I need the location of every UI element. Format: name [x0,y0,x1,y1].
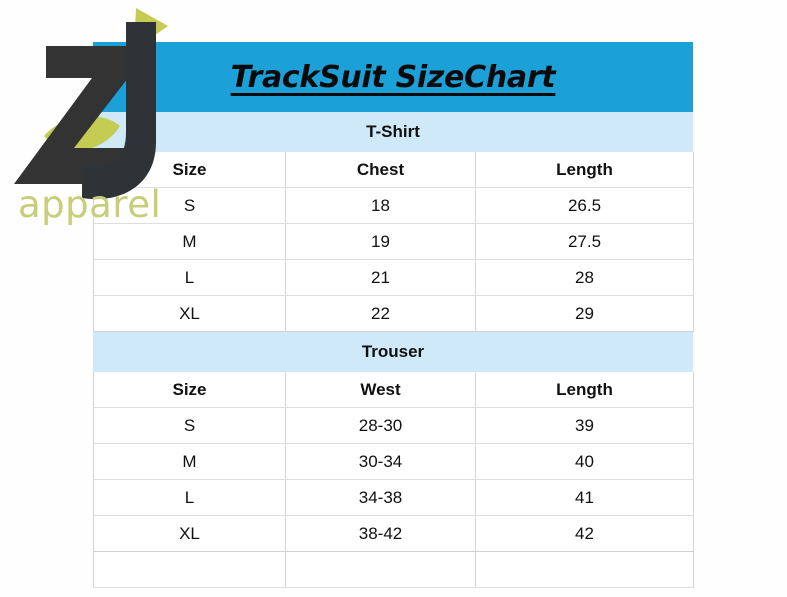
cell-chest: 21 [286,260,476,296]
table-row: L 21 28 [94,260,694,296]
section-heading-trouser: Trouser [93,332,693,372]
column-header-length: Length [476,372,694,408]
cell-length: 28 [476,260,694,296]
column-header-size: Size [94,152,286,188]
chart-title-band: TrackSuit SizeChart [93,42,693,112]
cell-west: 34-38 [286,480,476,516]
table-row: L 34-38 41 [94,480,694,516]
table-row: M 30-34 40 [94,444,694,480]
trouser-size-table: Size West Length S 28-30 39 M 30-34 40 L… [93,372,694,588]
column-header-chest: Chest [286,152,476,188]
cell-empty [94,552,286,588]
column-header-size: Size [94,372,286,408]
cell-length: 29 [476,296,694,332]
size-chart: TrackSuit SizeChart T-Shirt Size Chest L… [93,42,693,588]
section-heading-trouser-label: Trouser [362,342,424,362]
section-heading-tshirt-label: T-Shirt [366,122,420,142]
table-row: XL 38-42 42 [94,516,694,552]
cell-chest: 19 [286,224,476,260]
cell-length: 39 [476,408,694,444]
trouser-header-row: Size West Length [94,372,694,408]
section-heading-tshirt: T-Shirt [93,112,693,152]
column-header-west: West [286,372,476,408]
chart-title: TrackSuit SizeChart [231,60,556,95]
cell-length: 41 [476,480,694,516]
cell-west: 38-42 [286,516,476,552]
cell-size: L [94,480,286,516]
tshirt-header-row: Size Chest Length [94,152,694,188]
cell-size: M [94,444,286,480]
cell-size: XL [94,296,286,332]
cell-length: 27.5 [476,224,694,260]
cell-length: 26.5 [476,188,694,224]
cell-size: L [94,260,286,296]
cell-size: S [94,408,286,444]
cell-west: 30-34 [286,444,476,480]
table-row: S 28-30 39 [94,408,694,444]
cell-size: S [94,188,286,224]
cell-empty [286,552,476,588]
table-row-partial [94,552,694,588]
table-row: M 19 27.5 [94,224,694,260]
tshirt-size-table: Size Chest Length S 18 26.5 M 19 27.5 L … [93,152,694,332]
cell-length: 42 [476,516,694,552]
cell-length: 40 [476,444,694,480]
cell-size: XL [94,516,286,552]
table-row: S 18 26.5 [94,188,694,224]
cell-west: 28-30 [286,408,476,444]
cell-size: M [94,224,286,260]
cell-empty [476,552,694,588]
cell-chest: 18 [286,188,476,224]
table-row: XL 22 29 [94,296,694,332]
cell-chest: 22 [286,296,476,332]
column-header-length: Length [476,152,694,188]
